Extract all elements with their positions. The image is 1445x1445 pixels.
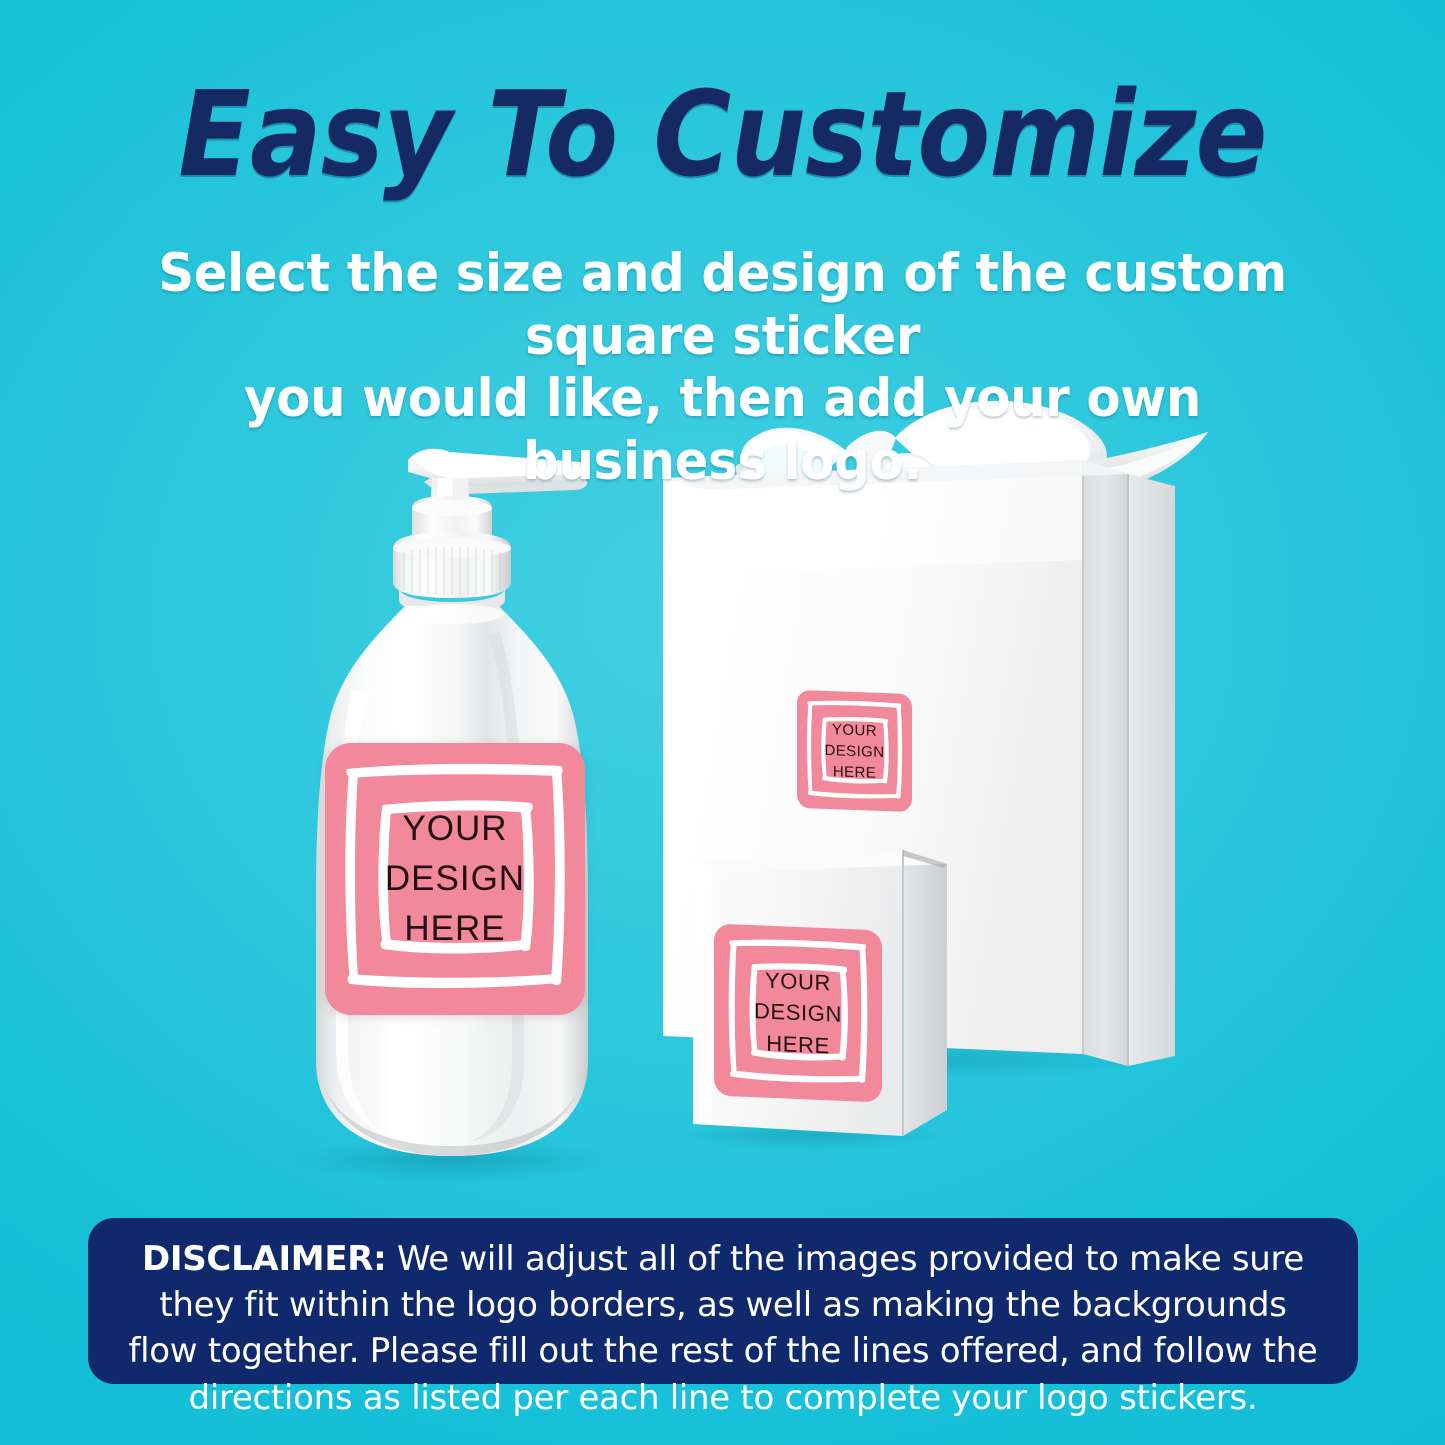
sticker-bottle-text: YOUR DESIGN HERE [325, 743, 585, 1015]
gift-box-side-panel [1128, 474, 1175, 1066]
sticker-line-1: YOUR [832, 719, 877, 742]
pump-cap [393, 532, 511, 598]
small-box-top [693, 850, 947, 872]
disclaimer-box: DISCLAIMER: We will adjust all of the im… [88, 1218, 1358, 1384]
sticker-line-1: YOUR [765, 965, 831, 999]
sticker-line-3: HERE [404, 904, 505, 954]
sticker-small-box[interactable]: YOUR DESIGN HERE [714, 923, 882, 1102]
small-box-side [903, 850, 947, 1136]
sticker-small-box-text: YOUR DESIGN HERE [714, 923, 882, 1102]
sticker-line-2: DESIGN [385, 854, 525, 904]
sticker-bottle[interactable]: YOUR DESIGN HERE [325, 743, 585, 1015]
page-subtitle: Select the size and design of the custom… [147, 243, 1299, 493]
sticker-line-3: HERE [766, 1027, 830, 1061]
sticker-line-1: YOUR [402, 804, 507, 854]
pump-cap-lip [399, 588, 505, 614]
small-box-shadow [675, 1119, 945, 1151]
sticker-line-2: DESIGN [825, 739, 885, 762]
sticker-line-3: HERE [833, 761, 876, 784]
bottle-shadow [292, 1138, 612, 1182]
product-marketing-image: YOUR DESIGN HERE YOUR DESIGN HERE [0, 0, 1445, 1445]
gift-box-side [1083, 460, 1128, 1066]
pump-collar [412, 496, 492, 552]
disclaimer-term: DISCLAIMER: [142, 1239, 386, 1279]
sticker-gift-box-text: YOUR DESIGN HERE [797, 690, 912, 812]
sticker-gift-box[interactable]: YOUR DESIGN HERE [797, 690, 912, 812]
subtitle-line-2: you would like, then add your own busine… [147, 368, 1299, 493]
page-title: Easy To Customize [72, 74, 1373, 194]
subtitle-line-1: Select the size and design of the custom… [147, 243, 1299, 368]
sticker-line-2: DESIGN [754, 996, 842, 1031]
pump-cap-ribs [404, 547, 500, 595]
